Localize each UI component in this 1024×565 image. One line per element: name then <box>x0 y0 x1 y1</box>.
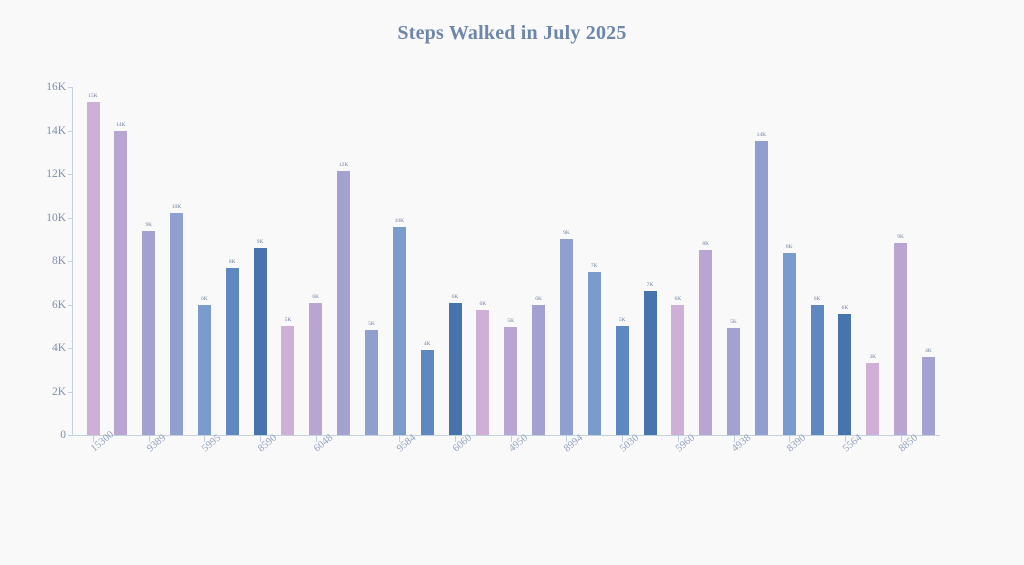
bar-value-label: 6K <box>807 296 827 302</box>
y-axis-tick-mark <box>68 435 73 436</box>
bar[interactable] <box>87 102 100 435</box>
bar[interactable] <box>532 305 545 435</box>
bar-value-label: 6K <box>194 296 214 302</box>
chart-title: Steps Walked in July 2025 <box>0 22 1024 45</box>
bar[interactable] <box>922 357 935 435</box>
bar[interactable] <box>671 305 684 435</box>
y-axis-tick-label: 10K <box>26 212 66 224</box>
bar[interactable] <box>644 291 657 435</box>
bar-value-label: 12K <box>334 162 354 168</box>
plot-area: 02K4K6K8K10K12K14K16K 153009389599585906… <box>72 80 940 442</box>
bar[interactable] <box>755 141 768 435</box>
bar-value-label: 10K <box>389 218 409 224</box>
bar[interactable] <box>699 250 712 435</box>
bar-value-label: 7K <box>640 282 660 288</box>
y-axis-tick-label: 16K <box>26 81 66 93</box>
bar-value-label: 6K <box>835 305 855 311</box>
y-axis-tick-mark <box>68 87 73 88</box>
bar-value-label: 14K <box>751 132 771 138</box>
bar-value-label: 9K <box>891 234 911 240</box>
bar[interactable] <box>838 314 851 435</box>
y-axis-tick-mark <box>68 348 73 349</box>
bar[interactable] <box>449 303 462 435</box>
bar[interactable] <box>337 171 350 435</box>
y-axis-tick-mark <box>68 131 73 132</box>
y-axis-tick-mark <box>68 218 73 219</box>
bar-value-label: 5K <box>501 318 521 324</box>
y-axis-tick-mark <box>68 261 73 262</box>
bar-value-label: 8K <box>222 259 242 265</box>
y-axis-tick-label: 0 <box>26 429 66 441</box>
bar-value-label: 4K <box>417 341 437 347</box>
y-axis-tick-mark <box>68 305 73 306</box>
bar-value-label: 5K <box>362 321 382 327</box>
bar-value-label: 6K <box>445 294 465 300</box>
bar[interactable] <box>393 227 406 435</box>
bar[interactable] <box>170 213 183 435</box>
bar-value-label: 8K <box>696 241 716 247</box>
bar[interactable] <box>616 326 629 435</box>
bar-value-label: 5K <box>612 317 632 323</box>
bar-value-label: 14K <box>111 122 131 128</box>
chart-page: Steps Walked in July 2025 02K4K6K8K10K12… <box>0 0 1024 565</box>
bar-value-label: 6K <box>306 294 326 300</box>
bar-value-label: 9K <box>556 230 576 236</box>
bar[interactable] <box>811 305 824 436</box>
bar[interactable] <box>588 272 601 435</box>
bar[interactable] <box>421 350 434 435</box>
bar[interactable] <box>142 231 155 435</box>
bar[interactable] <box>226 268 239 435</box>
bar[interactable] <box>114 131 127 435</box>
x-axis-line <box>72 435 940 436</box>
bar-value-label: 5K <box>278 317 298 323</box>
bar[interactable] <box>198 305 211 435</box>
y-axis-tick-label: 4K <box>26 342 66 354</box>
bar[interactable] <box>476 310 489 435</box>
bar-value-label: 5K <box>724 319 744 325</box>
bar[interactable] <box>365 330 378 435</box>
bar-value-label: 3K <box>863 354 883 360</box>
bar-value-label: 8K <box>779 244 799 250</box>
y-axis-tick-label: 6K <box>26 299 66 311</box>
y-axis-tick-label: 8K <box>26 255 66 267</box>
bar[interactable] <box>783 253 796 435</box>
bar[interactable] <box>281 326 294 435</box>
bar[interactable] <box>727 328 740 435</box>
bar-value-label: 6K <box>473 301 493 307</box>
bar-value-label: 9K <box>250 239 270 245</box>
bar-value-label: 15K <box>83 93 103 99</box>
bar-value-label: 6K <box>668 296 688 302</box>
bar-value-label: 9K <box>139 222 159 228</box>
bar-value-label: 4K <box>919 348 939 354</box>
bar-value-label: 10K <box>167 204 187 210</box>
y-axis-tick-label: 12K <box>26 168 66 180</box>
bar[interactable] <box>560 239 573 435</box>
bar-value-label: 7K <box>584 263 604 269</box>
y-axis-tick-label: 2K <box>26 386 66 398</box>
bar[interactable] <box>894 243 907 435</box>
bar[interactable] <box>504 327 517 435</box>
bar[interactable] <box>254 248 267 435</box>
bar[interactable] <box>309 303 322 435</box>
y-axis-tick-mark <box>68 392 73 393</box>
y-axis-tick-mark <box>68 174 73 175</box>
y-axis-tick-label: 14K <box>26 125 66 137</box>
bar-value-label: 6K <box>529 296 549 302</box>
bar[interactable] <box>866 363 879 435</box>
